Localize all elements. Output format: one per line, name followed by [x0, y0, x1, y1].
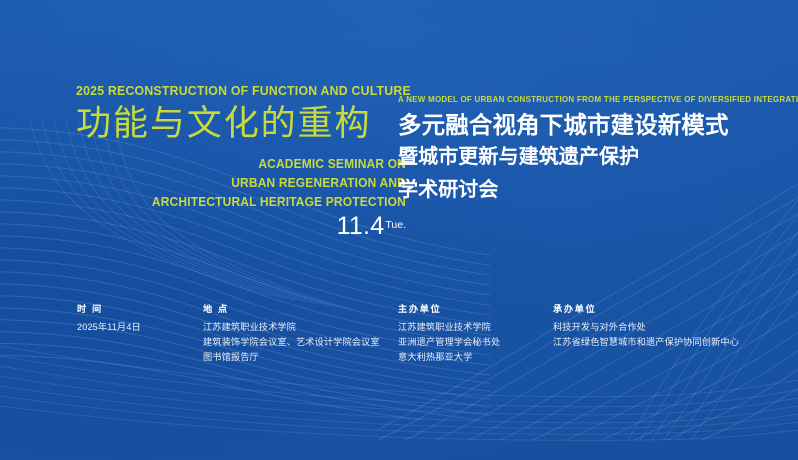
- info-column-venue-title: 地 点: [203, 305, 393, 314]
- info-column-venue-line-2: 建筑装饰学院会议室、艺术设计学院会议室: [203, 335, 393, 350]
- info-row: 时 间 2025年11月4日 地 点 江苏建筑职业技术学院 建筑装饰学院会议室、…: [0, 305, 798, 375]
- info-column-co-organizers-line-2: 江苏省绿色智慧城市和遗产保护协同创新中心: [553, 335, 783, 350]
- poster-content: 2025 RECONSTRUCTION OF FUNCTION AND CULT…: [0, 0, 798, 460]
- headline-title-cn: 功能与文化的重构: [76, 104, 406, 143]
- event-date-weekday: Tue.: [385, 219, 406, 231]
- headline-subtitle-en-line2: URBAN REGENERATION AND: [93, 174, 407, 193]
- theme-title-cn-line1: 多元融合视角下城市建设新模式: [398, 111, 738, 139]
- theme-tagline-en: A NEW MODEL OF URBAN CONSTRUCTION FROM T…: [398, 96, 728, 104]
- headline-subtitle-en-line1: ACADEMIC SEMINAR ON: [93, 155, 407, 174]
- theme-title-cn-line2: 暨城市更新与建筑遗产保护: [398, 143, 738, 171]
- event-date-number: 11.4: [337, 212, 385, 240]
- info-column-venue-line-1: 江苏建筑职业技术学院: [203, 320, 393, 335]
- info-column-venue-line-3: 图书馆报告厅: [203, 350, 393, 365]
- headline-kicker-en: 2025 RECONSTRUCTION OF FUNCTION AND CULT…: [76, 84, 383, 97]
- info-column-organizers-line-1: 江苏建筑职业技术学院: [398, 320, 548, 335]
- info-column-co-organizers-line-1: 科技开发与对外合作处: [553, 320, 783, 335]
- info-column-organizers-title: 主办单位: [398, 305, 548, 314]
- headline-block: 2025 RECONSTRUCTION OF FUNCTION AND CULT…: [76, 84, 406, 239]
- info-column-time-line-1: 2025年11月4日: [77, 320, 197, 335]
- info-column-co-organizers-title: 承办单位: [553, 305, 783, 314]
- headline-subtitle-en-line3: ARCHITECTURAL HERITAGE PROTECTION: [93, 193, 407, 212]
- info-column-organizers: 主办单位 江苏建筑职业技术学院 亚洲遗产管理学会秘书处 意大利热那亚大学: [398, 305, 548, 365]
- info-column-organizers-line-2: 亚洲遗产管理学会秘书处: [398, 335, 548, 350]
- theme-block: A NEW MODEL OF URBAN CONSTRUCTION FROM T…: [398, 96, 738, 204]
- theme-title-cn-line3: 学术研讨会: [398, 176, 738, 204]
- info-column-organizers-line-3: 意大利热那亚大学: [398, 350, 548, 365]
- info-column-co-organizers: 承办单位 科技开发与对外合作处 江苏省绿色智慧城市和遗产保护协同创新中心: [553, 305, 783, 350]
- headline-subtitle-en: ACADEMIC SEMINAR ON URBAN REGENERATION A…: [93, 155, 407, 211]
- poster-canvas: 2025 RECONSTRUCTION OF FUNCTION AND CULT…: [0, 0, 798, 460]
- info-column-time: 时 间 2025年11月4日: [77, 305, 197, 335]
- info-column-time-title: 时 间: [77, 305, 197, 314]
- event-date: 11.4Tue.: [76, 214, 406, 239]
- info-column-venue: 地 点 江苏建筑职业技术学院 建筑装饰学院会议室、艺术设计学院会议室 图书馆报告…: [203, 305, 393, 365]
